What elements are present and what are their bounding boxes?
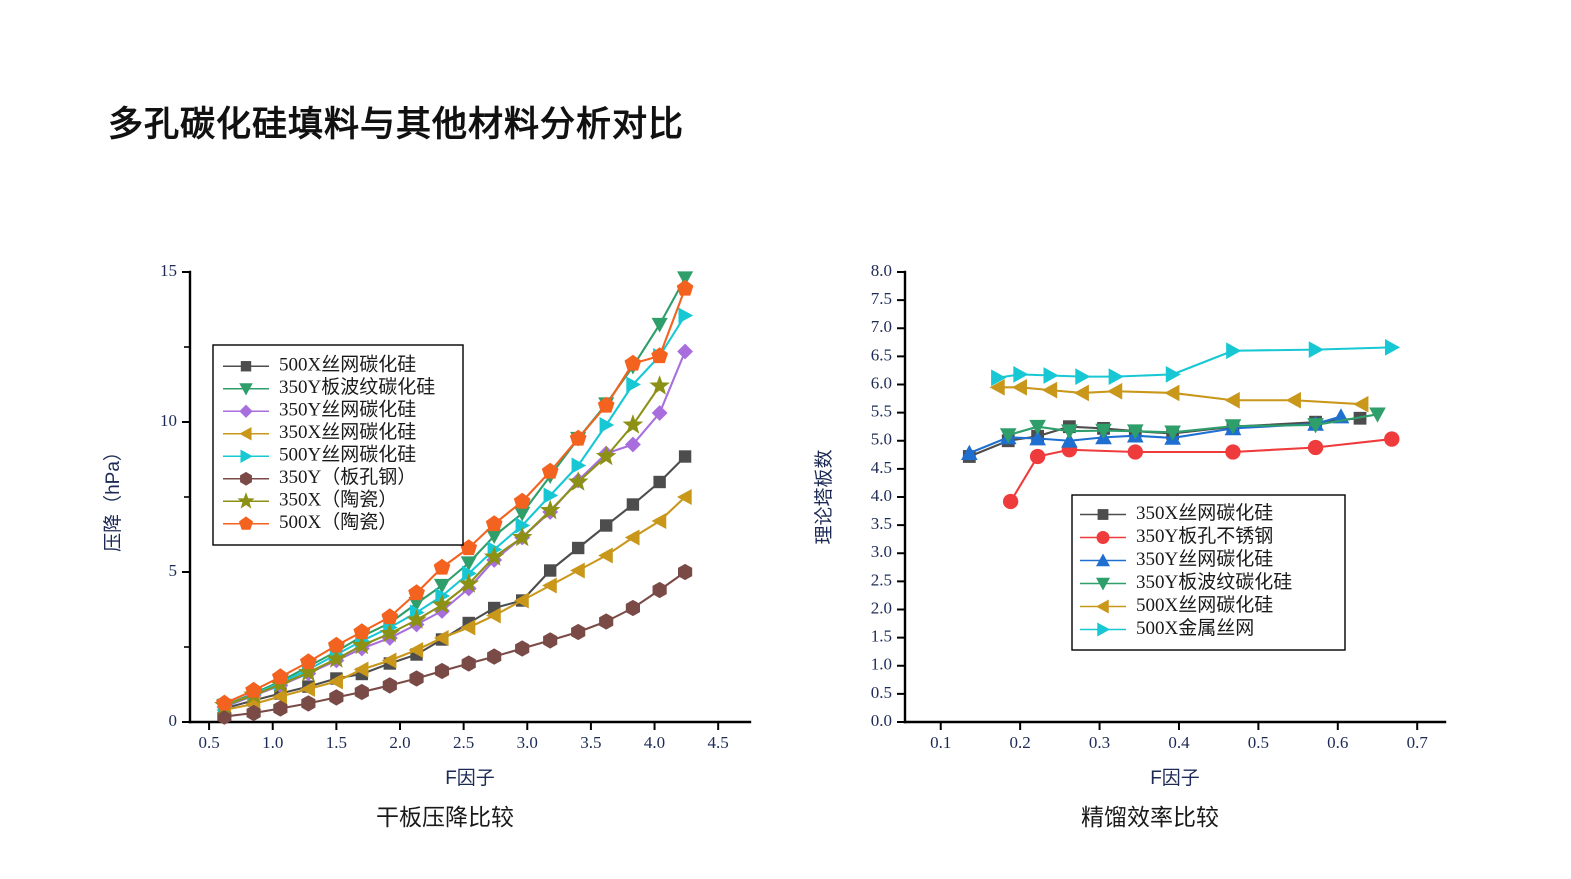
y-axis-tick-label: 15 xyxy=(160,261,177,280)
data-point-marker xyxy=(543,632,557,648)
x-axis-tick-label: 0.5 xyxy=(1248,733,1269,752)
y-axis-tick-label: 5.0 xyxy=(871,430,892,449)
data-point-marker xyxy=(571,624,585,640)
chart-svg-dry-pressure-drop: 0510150.51.01.52.02.53.03.54.04.5F因子压降（h… xyxy=(85,250,805,790)
data-point-marker xyxy=(679,450,691,462)
legend-item-label: 350Y板波纹碳化硅 xyxy=(1136,571,1292,593)
data-point-marker xyxy=(1098,509,1109,520)
y-axis-tick-label: 3.5 xyxy=(871,514,892,533)
y-axis-tick-label: 2.5 xyxy=(871,570,892,589)
data-point-marker xyxy=(1164,385,1179,402)
data-point-marker xyxy=(328,637,345,653)
y-axis-tick-label: 4.0 xyxy=(871,486,892,505)
data-point-marker xyxy=(515,640,529,656)
chart-series-group xyxy=(961,339,1400,509)
data-point-marker xyxy=(542,577,557,593)
data-point-marker xyxy=(1042,382,1057,399)
x-axis-tick-label: 0.6 xyxy=(1327,733,1348,752)
y-axis-tick-label: 8.0 xyxy=(871,261,892,280)
data-point-marker xyxy=(623,414,644,434)
y-axis-tick-label: 4.5 xyxy=(871,458,892,477)
data-point-marker xyxy=(1309,341,1324,358)
data-point-marker xyxy=(652,318,668,333)
legend-item-label: 350X（陶瓷） xyxy=(279,489,397,511)
data-point-marker xyxy=(625,529,640,545)
chart-legend: 350X丝网碳化硅350Y板孔不锈钢350Y丝网碳化硅350Y板波纹碳化硅500… xyxy=(1072,495,1345,650)
data-point-marker xyxy=(599,613,613,629)
data-point-marker xyxy=(355,684,369,700)
series-6 xyxy=(991,339,1400,386)
y-axis-tick-label: 1.5 xyxy=(871,627,892,646)
data-point-marker xyxy=(1226,342,1241,359)
y-axis-tick-label: 6.5 xyxy=(871,345,892,364)
data-point-marker xyxy=(652,513,667,529)
data-point-marker xyxy=(653,582,667,598)
data-point-marker xyxy=(626,600,640,616)
legend-item-label: 350X丝网碳化硅 xyxy=(1136,502,1273,524)
chart-panel-dry-pressure-drop: 0510150.51.01.52.02.53.03.54.04.5F因子压降（h… xyxy=(85,250,805,790)
chart-caption-distillation-efficiency: 精馏效率比较 xyxy=(800,798,1500,832)
data-point-marker xyxy=(353,623,370,639)
data-point-marker xyxy=(300,653,317,669)
data-point-marker xyxy=(241,361,251,371)
x-axis-tick-label: 4.5 xyxy=(708,733,729,752)
y-axis-tick-label: 3.0 xyxy=(871,542,892,561)
data-point-marker xyxy=(627,498,639,510)
legend-item-label: 500X丝网碳化硅 xyxy=(1136,594,1273,616)
legend-item-label: 500X（陶瓷） xyxy=(279,511,397,533)
legend-item-label: 500X丝网碳化硅 xyxy=(279,354,416,376)
slide-canvas: 多孔碳化硅填料与其他材料分析对比 0510150.51.01.52.02.53.… xyxy=(0,0,1571,879)
x-axis-tick-label: 0.4 xyxy=(1168,733,1190,752)
data-point-marker xyxy=(1385,339,1400,356)
data-point-marker xyxy=(1225,392,1240,409)
data-point-marker xyxy=(216,695,233,711)
data-point-marker xyxy=(409,670,423,686)
data-point-marker xyxy=(1097,531,1110,544)
data-point-marker xyxy=(572,457,587,473)
data-point-marker xyxy=(435,663,449,679)
x-axis-tick-label: 0.1 xyxy=(930,733,951,752)
data-point-marker xyxy=(245,682,262,698)
data-point-marker xyxy=(486,515,503,531)
data-point-marker xyxy=(301,695,315,711)
x-axis-tick-label: 2.0 xyxy=(389,733,410,752)
legend-item-label: 350Y板孔不锈钢 xyxy=(1136,525,1273,547)
data-point-marker xyxy=(1384,431,1399,446)
data-point-marker xyxy=(1353,396,1368,413)
legend-item-label: 350Y（板孔钢） xyxy=(279,466,416,488)
legend-item-label: 500Y丝网碳化硅 xyxy=(279,444,416,466)
data-point-marker xyxy=(649,375,670,395)
data-point-marker xyxy=(1286,392,1301,409)
data-point-marker xyxy=(677,344,693,360)
y-axis-tick-label: 0 xyxy=(169,711,178,730)
y-axis-title: 理论塔板数 xyxy=(813,449,835,544)
x-axis-tick-label: 2.5 xyxy=(453,733,474,752)
page-title: 多孔碳化硅填料与其他材料分析对比 xyxy=(108,96,684,147)
x-axis-tick-label: 1.5 xyxy=(326,733,347,752)
data-point-marker xyxy=(600,519,612,531)
legend-item-label: 350Y丝网碳化硅 xyxy=(279,399,416,421)
y-axis-title: 压降（hPa） xyxy=(102,442,124,552)
data-point-marker xyxy=(600,417,615,433)
data-point-marker xyxy=(1109,368,1124,385)
data-point-marker xyxy=(1128,444,1143,459)
x-axis-tick-label: 1.0 xyxy=(262,733,283,752)
data-point-marker xyxy=(1075,368,1090,385)
series-4 xyxy=(1000,407,1386,443)
series-line xyxy=(998,347,1392,377)
x-axis-tick-label: 0.2 xyxy=(1010,733,1031,752)
x-axis-tick-label: 0.7 xyxy=(1407,733,1429,752)
data-point-marker xyxy=(329,689,343,705)
data-point-marker xyxy=(1308,440,1323,455)
y-axis-tick-label: 0.5 xyxy=(871,683,892,702)
data-point-marker xyxy=(487,648,501,664)
data-point-marker xyxy=(1225,444,1240,459)
data-point-marker xyxy=(434,559,451,575)
data-point-marker xyxy=(572,542,584,554)
data-point-marker xyxy=(544,564,556,576)
legend-item-label: 500X金属丝网 xyxy=(1136,617,1254,639)
y-axis-tick-label: 7.0 xyxy=(871,317,892,336)
y-axis-tick-label: 1.0 xyxy=(871,655,892,674)
x-axis-title: F因子 xyxy=(1150,768,1200,789)
data-point-marker xyxy=(1044,367,1059,384)
legend-item-label: 350Y丝网碳化硅 xyxy=(1136,548,1273,570)
data-point-marker xyxy=(1166,366,1181,383)
x-axis-tick-label: 0.5 xyxy=(198,733,219,752)
y-axis-tick-label: 10 xyxy=(160,411,177,430)
data-point-marker xyxy=(462,655,476,671)
x-axis-tick-label: 3.5 xyxy=(580,733,601,752)
y-axis-tick-label: 7.5 xyxy=(871,289,892,308)
data-point-marker xyxy=(1030,449,1045,464)
data-point-marker xyxy=(653,476,665,488)
y-axis-tick-label: 0.0 xyxy=(871,711,892,730)
data-point-marker xyxy=(383,677,397,693)
y-axis-tick-label: 5 xyxy=(169,561,178,580)
data-point-marker xyxy=(272,668,289,684)
data-point-marker xyxy=(570,562,585,578)
x-axis-tick-label: 4.0 xyxy=(644,733,665,752)
data-point-marker xyxy=(678,564,692,580)
y-axis-tick-label: 6.0 xyxy=(871,373,892,392)
y-axis-tick-label: 5.5 xyxy=(871,402,892,421)
chart-legend: 500X丝网碳化硅350Y板波纹碳化硅350Y丝网碳化硅350X丝网碳化硅500… xyxy=(213,345,463,545)
series-5 xyxy=(990,379,1369,413)
series-line xyxy=(969,417,1341,454)
data-point-marker xyxy=(1107,383,1122,400)
x-axis-tick-label: 0.3 xyxy=(1089,733,1110,752)
data-point-marker xyxy=(598,547,613,563)
x-axis-tick-label: 3.0 xyxy=(517,733,538,752)
legend-item-label: 350X丝网碳化硅 xyxy=(279,421,416,443)
data-point-marker xyxy=(677,280,694,296)
data-point-marker xyxy=(1003,494,1018,509)
y-axis-tick-label: 2.0 xyxy=(871,598,892,617)
chart-caption-dry-pressure-drop: 干板压降比较 xyxy=(85,798,805,832)
legend-item-label: 350Y板波纹碳化硅 xyxy=(279,376,435,398)
x-axis-title: F因子 xyxy=(445,768,495,789)
series-6 xyxy=(217,564,692,725)
data-point-marker xyxy=(1074,385,1089,402)
chart-panel-distillation-efficiency: 0.00.51.01.52.02.53.03.54.04.55.05.56.06… xyxy=(800,250,1500,790)
data-point-marker xyxy=(678,307,693,323)
chart-svg-distillation-efficiency: 0.00.51.01.52.02.53.03.54.04.55.05.56.06… xyxy=(800,250,1500,790)
